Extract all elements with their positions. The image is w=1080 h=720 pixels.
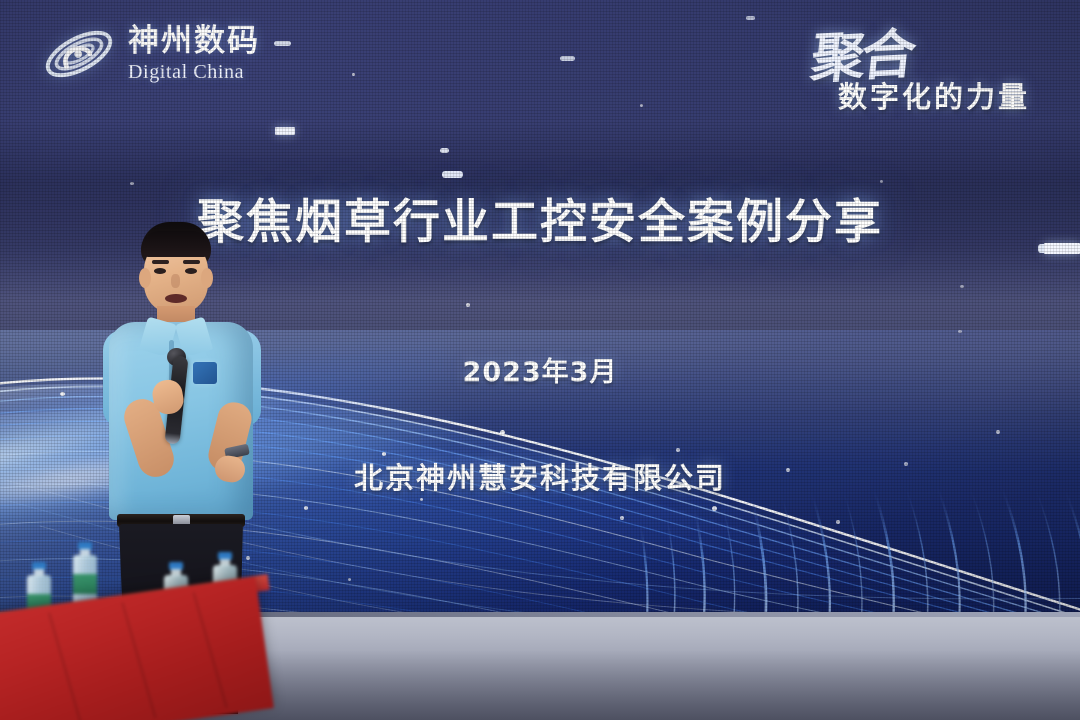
table-cloth-fold [193, 592, 228, 708]
table-cloth-fold [48, 613, 83, 720]
galaxy-swirl-icon [40, 18, 118, 90]
brand-name-en: Digital China [128, 62, 260, 82]
theme-subtitle: 数字化的力量 [838, 74, 1030, 116]
presenter-eye-left [154, 268, 166, 274]
presenter-brow-right [183, 260, 200, 264]
brand-name-cn: 神州数码 [128, 26, 260, 57]
presenter-hair-front [141, 231, 211, 257]
presenter-nose [171, 274, 180, 288]
presenter-eye-right [185, 268, 197, 274]
table-cloth-fold [121, 602, 156, 718]
bottle-label [73, 574, 97, 594]
digital-china-logo: 神州数码 Digital China [40, 18, 260, 90]
presenter-mouth [165, 294, 187, 303]
presenter-brow-left [152, 260, 169, 264]
event-theme-logo: 聚合 数字化的力量 [790, 16, 1060, 120]
screen-accent-bar-left [275, 127, 295, 135]
water-bottle [72, 542, 98, 606]
presenter-ear-left [139, 268, 151, 288]
presenter-ear-right [201, 268, 213, 288]
conference-photo: 神州数码 Digital China 聚合 数字化的力量 聚焦烟草行业工控安全案… [0, 0, 1080, 720]
presenter-chest-logo [193, 362, 217, 384]
digital-china-logo-text: 神州数码 Digital China [128, 26, 260, 82]
